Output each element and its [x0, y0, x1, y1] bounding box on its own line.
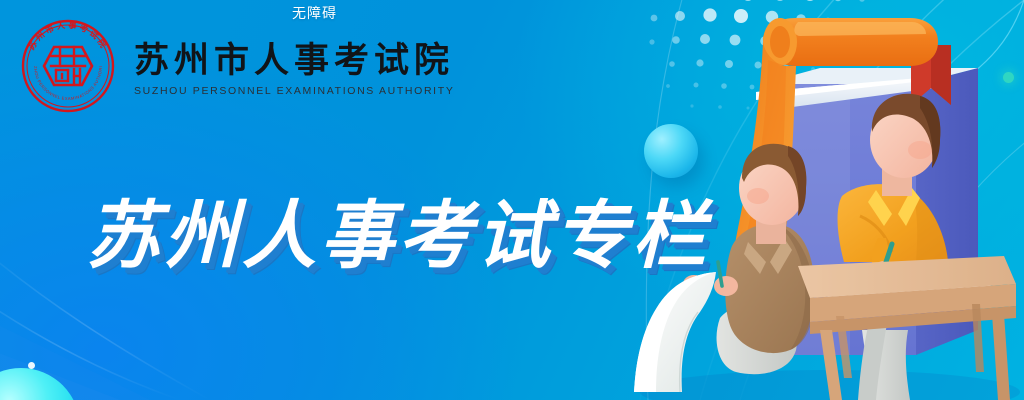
- brand-name-cn: 苏州市人事考试院: [134, 43, 454, 80]
- brand-text-block: 苏州市人事考试院 SUZHOU PERSONNEL EXAMINATIONS A…: [134, 43, 454, 97]
- cyan-sphere-corner: [0, 368, 80, 400]
- brand-logo-group[interactable]: 苏州市人事考试院 SUZHOU PERSONNEL EXAMINATIONS A…: [16, 14, 454, 118]
- cyan-sphere: [644, 124, 698, 178]
- halftone-dot-pattern: [648, 0, 908, 116]
- teal-accent-dot: [1003, 72, 1014, 83]
- brand-name-en: SUZHOU PERSONNEL EXAMINATIONS AUTHORITY: [134, 85, 454, 97]
- site-banner: 无障碍 苏州市人事考试院 SUZHOU PERSONNEL EXAMINATIO…: [0, 0, 1024, 400]
- white-accent-dot: [28, 362, 35, 369]
- page-title: 苏州人事考试专栏: [86, 176, 710, 283]
- official-seal-icon: 苏州市人事考试院 SUZHOU PERSONNEL EXAMINATIONS A…: [16, 14, 120, 118]
